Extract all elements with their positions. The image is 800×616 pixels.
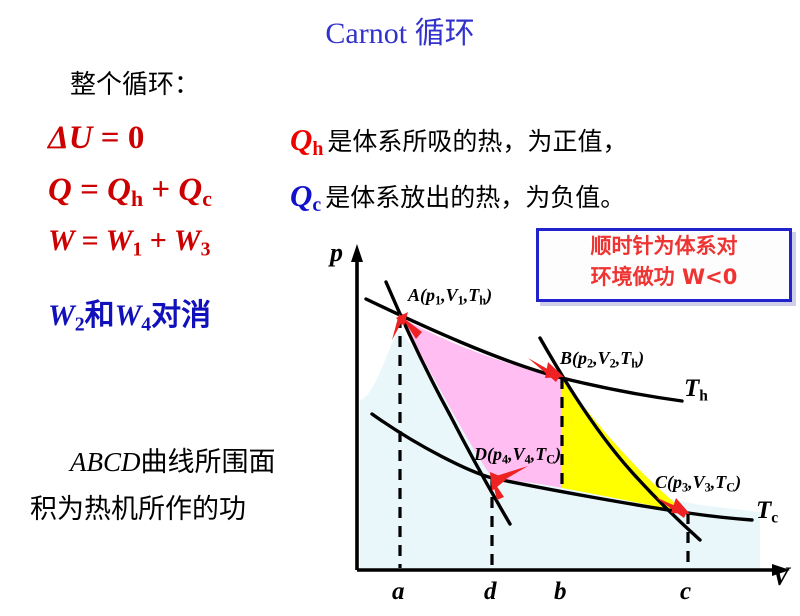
x-axis-label: V [772, 562, 789, 592]
sentence-qc: Qc 是体系放出的热，为负值。 [290, 178, 625, 217]
formula-w2-sub: 2 [75, 314, 85, 336]
callout-box: 顺时针为体系对 环境做功 W<0 [536, 228, 792, 302]
formula-w-cancel-he: 和 [85, 298, 115, 333]
formula-qc: Q [178, 172, 202, 208]
formula-q-plus: + [151, 172, 170, 208]
formula-qh-sub: h [131, 187, 143, 211]
x-tick-label-b: b [554, 578, 567, 606]
formula-delta-u-eq: = [101, 120, 120, 156]
background-under-curve-left [360, 330, 400, 570]
formula-w-cancel-tail: 对消 [151, 298, 211, 333]
formula-w3: W [174, 224, 201, 257]
qc-symbol: Qc [290, 178, 321, 213]
qh-symbol: Qh [290, 122, 323, 157]
formula-delta-u-rhs: 0 [128, 120, 145, 156]
y-axis-arrow [351, 244, 363, 262]
formula-w: W [48, 224, 74, 257]
formula-w1-sub: 1 [132, 239, 142, 261]
formula-w2: W [48, 299, 75, 332]
sentence-qc-tail: 。 [600, 183, 625, 212]
point-label-a: A(p1,V1,Th) [408, 285, 492, 309]
formula-delta-u: ΔU = 0 [48, 120, 144, 157]
page-title: Carnot 循环 [0, 8, 800, 52]
sentence-qh-highlight: 正值 [552, 127, 602, 156]
formula-q-total: Q = Qh + Qc [48, 172, 212, 212]
sentence-qh-text: 是体系所吸的热，为 [327, 127, 552, 156]
formula-w-eq: = [82, 224, 99, 257]
sentence-qc-highlight: 负值 [550, 183, 600, 212]
caption-line-2: 积为热机所作的功 [30, 487, 246, 526]
caption-line-1: ABCD曲线所围面 [70, 440, 276, 479]
formula-w3-sub: 3 [201, 239, 211, 261]
point-label-c: C(p3,V3,TC) [655, 472, 741, 496]
caption-cn-1: 曲线所围面 [141, 447, 276, 478]
formula-qh: Q [107, 172, 131, 208]
point-label-b: B(p2,V2,Th) [560, 348, 644, 372]
point-label-d: D(p4,V4,TC) [474, 444, 561, 468]
formula-delta-u-lhs: ΔU [48, 120, 93, 156]
formula-w1: W [106, 224, 133, 257]
x-tick-label-a: a [392, 578, 405, 606]
formula-q: Q [48, 172, 72, 208]
y-axis-label: p [330, 238, 343, 268]
callout-line-1: 顺时针为体系对 [539, 231, 789, 262]
x-tick-label-d: d [484, 578, 497, 606]
x-tick-label-c: c [680, 578, 691, 606]
sentence-qh: Qh 是体系所吸的热，为正值， [290, 122, 627, 161]
formula-w4: W [115, 299, 142, 332]
formula-w-plus: + [150, 224, 167, 257]
formula-qc-sub: c [202, 187, 212, 211]
sentence-qh-tail: ， [602, 127, 627, 156]
caption-cn-2: 积为热机所作的功 [30, 494, 246, 525]
sentence-qc-text: 是体系放出的热，为 [325, 183, 550, 212]
isotherm-tc-label: Tc [756, 497, 778, 527]
callout-line-2: 环境做功 W<0 [539, 262, 789, 293]
formula-q-eq: = [80, 172, 99, 208]
isotherm-th-label: Th [684, 375, 708, 405]
caption-latin: ABCD [70, 447, 141, 477]
section-subhead: 整个循环： [70, 64, 200, 101]
formula-w-total: W = W1 + W3 [48, 224, 210, 262]
formula-w4-sub: 4 [141, 314, 151, 336]
formula-w-cancel: W2和W4对消 [48, 290, 211, 337]
